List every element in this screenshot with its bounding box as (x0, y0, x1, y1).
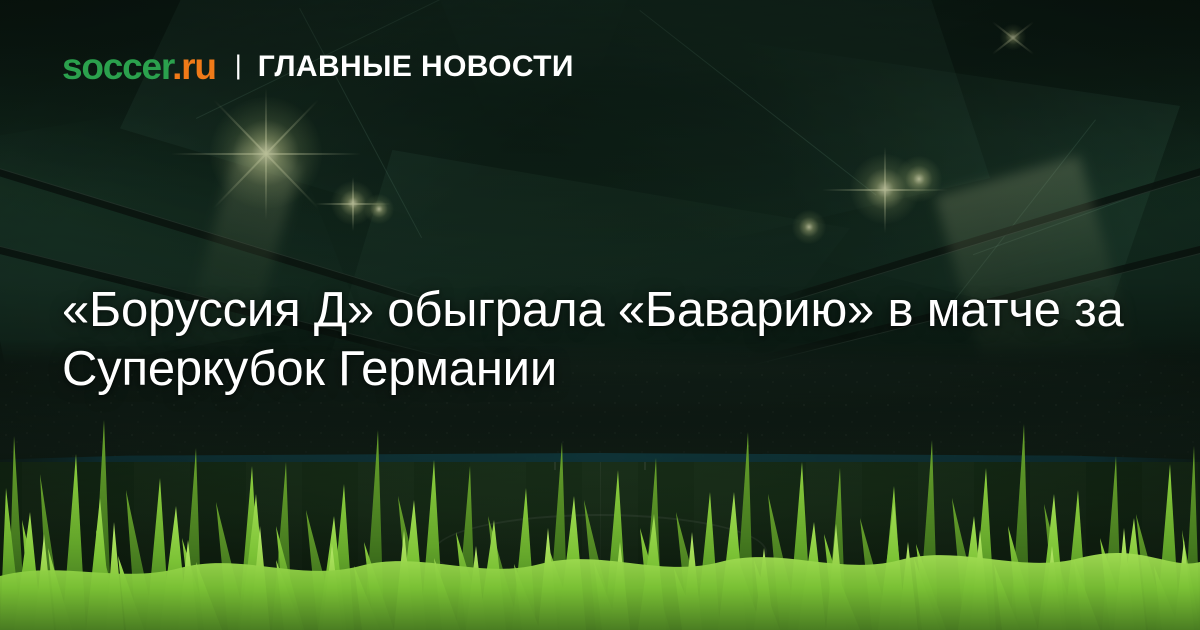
header-separator: | (235, 52, 242, 79)
header-kicker: ГЛАВНЫЕ НОВОСТИ (258, 52, 574, 82)
logo-text-suffix: .ru (172, 46, 216, 87)
share-card: soccer.ru | ГЛАВНЫЕ НОВОСТИ «Боруссия Д»… (0, 0, 1200, 630)
soccer-ru-logo[interactable]: soccer.ru (62, 48, 216, 85)
page-title: «Боруссия Д» обыграла «Баварию» в матче … (62, 281, 1152, 399)
logo-text-primary: soccer (62, 46, 172, 87)
site-header: soccer.ru | ГЛАВНЫЕ НОВОСТИ (62, 48, 574, 85)
